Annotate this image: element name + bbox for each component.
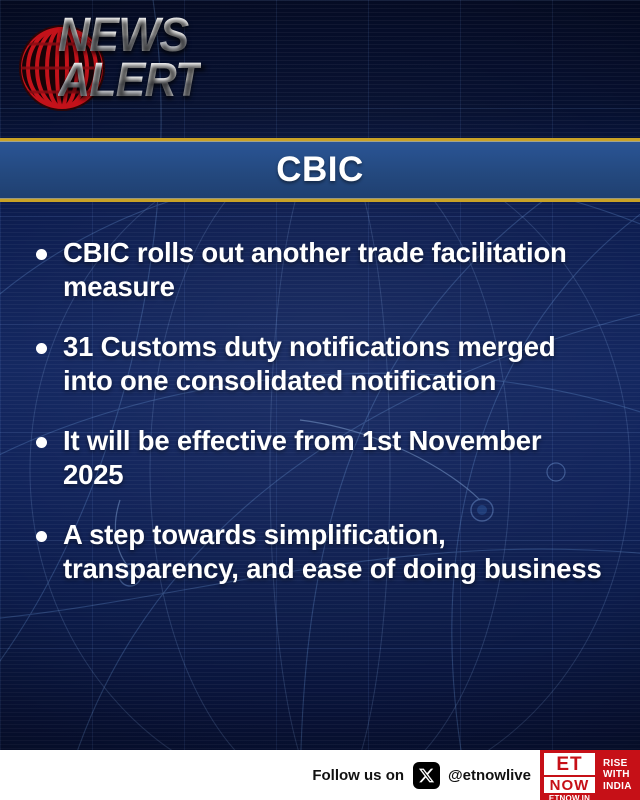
tagline-line-3: INDIA <box>603 781 640 793</box>
bullet-dot-icon <box>36 343 47 354</box>
bullet-text: CBIC rolls out another trade facilitatio… <box>63 236 602 304</box>
page-title: CBIC <box>276 150 364 190</box>
bullet-text: 31 Customs duty notifications merged int… <box>63 330 602 398</box>
list-item: It will be effective from 1st November 2… <box>36 424 602 492</box>
list-item: 31 Customs duty notifications merged int… <box>36 330 602 398</box>
list-item: A step towards simplification, transpare… <box>36 518 602 586</box>
bullet-list: CBIC rolls out another trade facilitatio… <box>36 236 602 612</box>
tagline-line-1: RISE <box>603 758 640 770</box>
news-alert-card: NEWS ALERT CBIC CBIC rolls out another t… <box>0 0 640 800</box>
etnow-logo: ET NOW ETNOW.IN RISE WITH INDIA <box>540 750 640 800</box>
etnow-et-text: ET <box>544 753 595 775</box>
x-twitter-icon[interactable] <box>413 762 440 789</box>
etnow-logo-mark: ET NOW ETNOW.IN <box>540 750 598 800</box>
news-alert-wordmark: NEWS ALERT <box>58 12 212 104</box>
headline-banner: CBIC <box>0 138 640 202</box>
etnow-website-text: ETNOW.IN <box>544 794 595 800</box>
etnow-now-text: NOW <box>544 777 595 793</box>
bullet-text: It will be effective from 1st November 2… <box>63 424 602 492</box>
bullet-dot-icon <box>36 531 47 542</box>
bullet-dot-icon <box>36 249 47 260</box>
bullet-text: A step towards simplification, transpare… <box>63 518 602 586</box>
tagline-line-2: WITH <box>603 769 640 781</box>
news-alert-line-1: NEWS <box>58 12 201 59</box>
bullet-dot-icon <box>36 437 47 448</box>
list-item: CBIC rolls out another trade facilitatio… <box>36 236 602 304</box>
news-alert-line-2: ALERT <box>58 57 201 104</box>
follow-us-label: Follow us on <box>312 767 404 784</box>
news-alert-logo: NEWS ALERT <box>18 10 248 130</box>
etnow-tagline: RISE WITH INDIA <box>598 750 640 800</box>
social-handle[interactable]: @etnowlive <box>448 767 531 784</box>
footer-bar: Follow us on @etnowlive ET NOW ETNOW.IN … <box>0 750 640 800</box>
